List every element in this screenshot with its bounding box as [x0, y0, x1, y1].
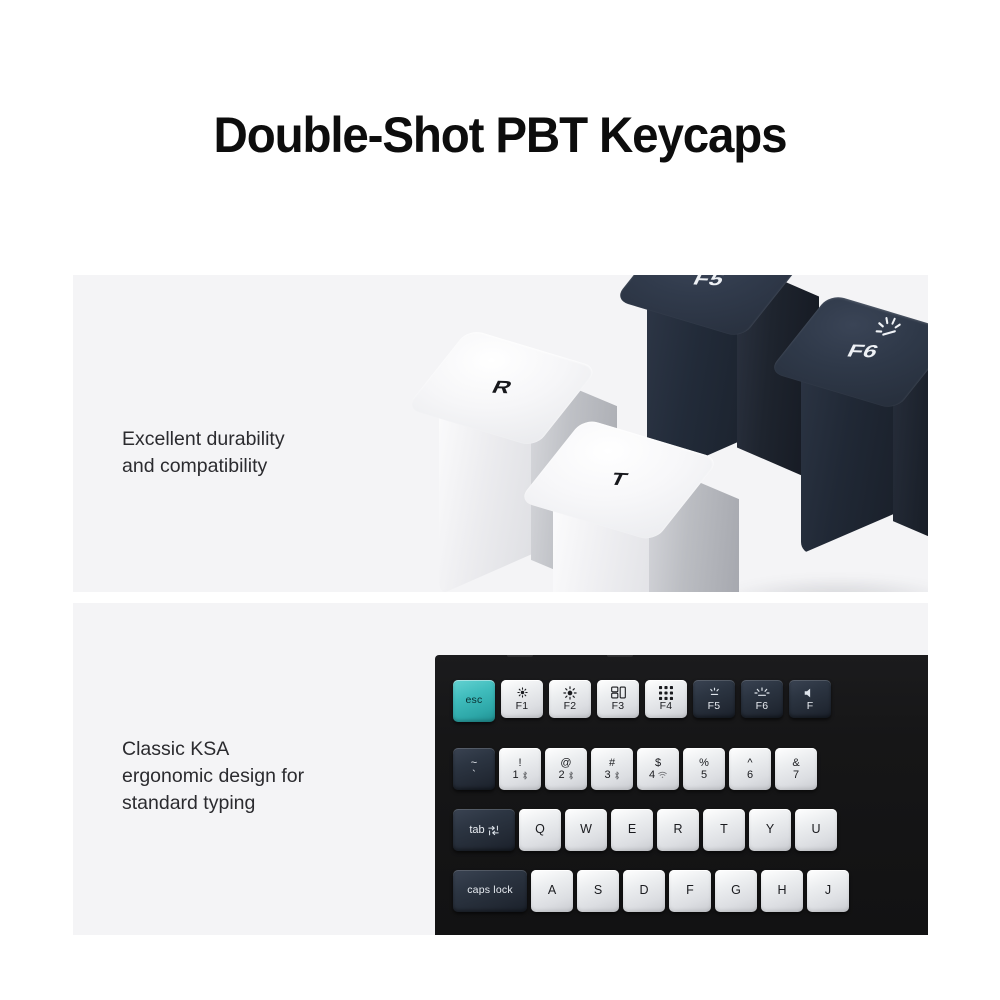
feature-panel-ergonomics: Classic KSA ergonomic design for standar…	[73, 603, 928, 935]
key-y[interactable]: Y	[749, 809, 791, 851]
key-f[interactable]: F	[669, 870, 711, 912]
keyboard-top-clip	[607, 655, 633, 657]
key-f5[interactable]: F5	[693, 680, 735, 718]
key-caps-lock[interactable]: caps lock	[453, 870, 527, 912]
volume-icon	[804, 686, 817, 700]
launchpad-icon	[659, 686, 673, 700]
key-tilde[interactable]: ~ `	[453, 748, 495, 790]
brightness-down-icon	[516, 686, 529, 700]
feature-panel-durability: Excellent durability and compatibility F…	[73, 275, 928, 592]
keycap-legend-t: T	[607, 470, 632, 491]
key-1[interactable]: ! 1	[499, 748, 541, 790]
bluetooth-icon	[522, 771, 528, 780]
key-f2[interactable]: F2	[549, 680, 591, 718]
key-4[interactable]: $ 4	[637, 748, 679, 790]
key-esc[interactable]: esc	[453, 680, 495, 722]
key-r[interactable]: R	[657, 809, 699, 851]
key-q[interactable]: Q	[519, 809, 561, 851]
keyboard-illustration: esc F1	[435, 655, 928, 935]
key-2[interactable]: @ 2	[545, 748, 587, 790]
key-5[interactable]: % 5	[683, 748, 725, 790]
key-d[interactable]: D	[623, 870, 665, 912]
key-j[interactable]: J	[807, 870, 849, 912]
key-7[interactable]: & 7	[775, 748, 817, 790]
key-6[interactable]: ^ 6	[729, 748, 771, 790]
bluetooth-icon	[614, 771, 620, 780]
wifi-icon	[658, 771, 667, 779]
mission-control-icon	[611, 686, 626, 700]
keycap-legend-f5: F5	[690, 275, 729, 291]
backlight-up-icon	[754, 686, 770, 700]
key-f7[interactable]: F	[789, 680, 831, 718]
keyboard-row-qwerty: tab Q W E R T Y U	[453, 809, 837, 851]
keycaps-illustration: F5 F6	[73, 275, 928, 592]
key-3[interactable]: # 3	[591, 748, 633, 790]
brightness-up-icon	[563, 686, 577, 700]
keycap-f6: F6	[753, 300, 928, 592]
key-s[interactable]: S	[577, 870, 619, 912]
keycap-top-face: F6	[768, 294, 928, 410]
keycap-legend-r: R	[488, 378, 516, 399]
keycap-legend-f6: F6	[844, 341, 883, 362]
key-h[interactable]: H	[761, 870, 803, 912]
keyboard-row-home: caps lock A S D F G H J	[453, 870, 849, 912]
backlight-down-icon	[707, 686, 722, 700]
bluetooth-icon	[568, 771, 574, 780]
keyboard-row-function: esc F1	[453, 680, 831, 722]
key-t[interactable]: T	[703, 809, 745, 851]
tab-arrows-icon	[488, 825, 499, 836]
key-f6[interactable]: F6	[741, 680, 783, 718]
product-feature-page: Double-Shot PBT Keycaps Excellent durabi…	[0, 0, 1000, 1000]
keyboard-top-clip	[507, 655, 533, 657]
key-u[interactable]: U	[795, 809, 837, 851]
keyboard-row-numbers: ~ ` ! 1 @	[453, 748, 817, 790]
key-e[interactable]: E	[611, 809, 653, 851]
key-a[interactable]: A	[531, 870, 573, 912]
key-f3[interactable]: F3	[597, 680, 639, 718]
keycap-t: T	[505, 425, 735, 592]
key-g[interactable]: G	[715, 870, 757, 912]
page-title: Double-Shot PBT Keycaps	[25, 106, 975, 164]
key-f1[interactable]: F1	[501, 680, 543, 718]
key-tab[interactable]: tab	[453, 809, 515, 851]
key-w[interactable]: W	[565, 809, 607, 851]
panel-caption-ergonomics: Classic KSA ergonomic design for standar…	[122, 736, 304, 817]
key-f4[interactable]: F4	[645, 680, 687, 718]
